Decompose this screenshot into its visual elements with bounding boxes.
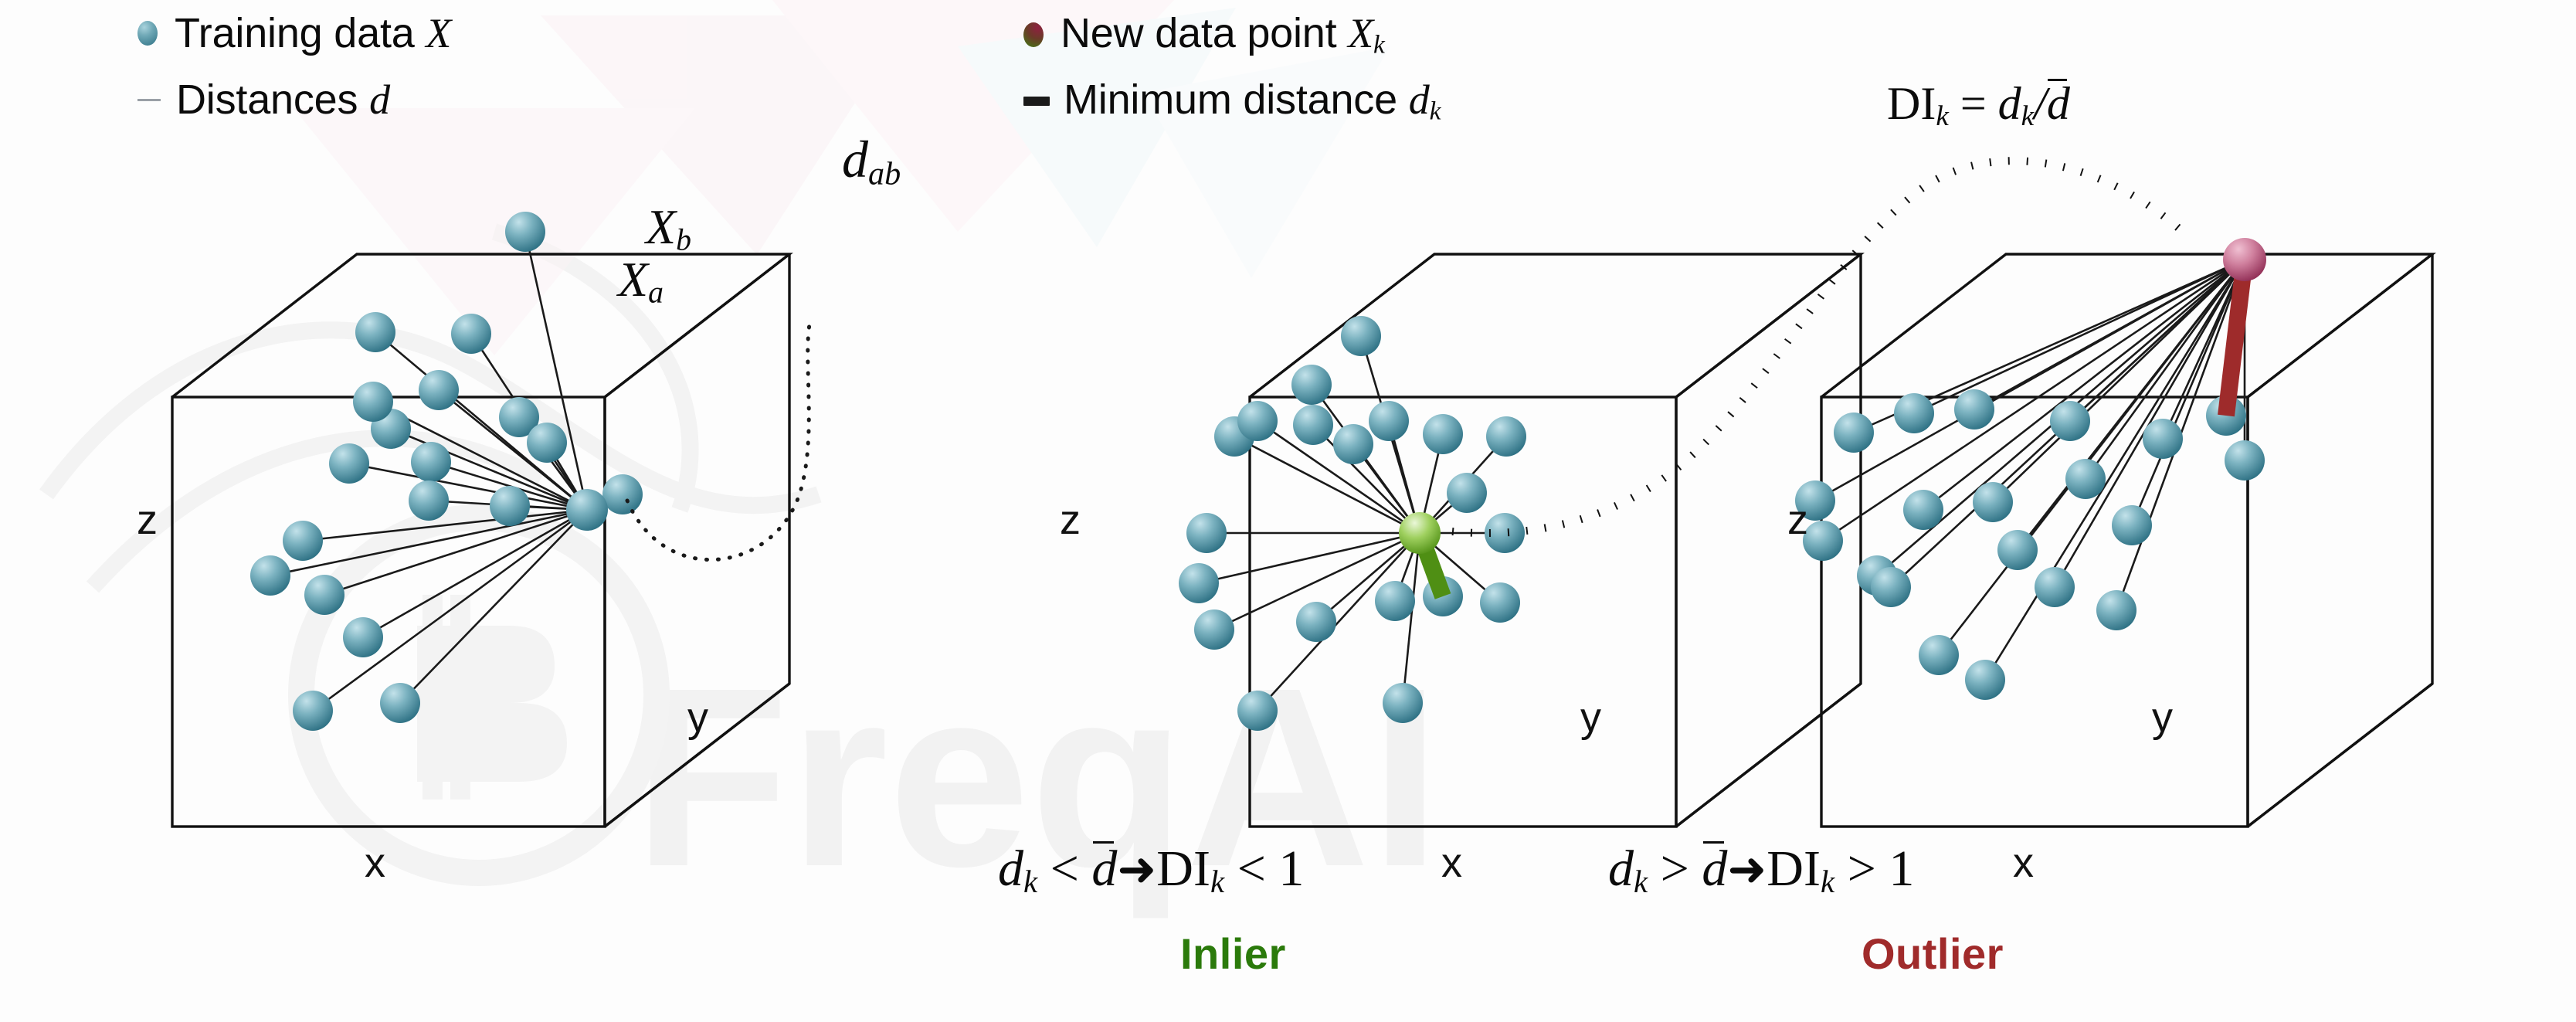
legend-label-distances: Distances d	[176, 79, 390, 121]
cube-wireframe-2	[1250, 254, 1861, 827]
axis-label-x-2: x	[1441, 842, 1462, 884]
training-points-2	[1179, 316, 1526, 731]
legend-item-training-data: Training data X	[137, 12, 451, 54]
diagram-root: FreqAI Training data X Distances d New d	[0, 0, 2576, 1022]
distance-label-dab: dab	[842, 133, 901, 190]
axis-label-x-3: x	[2013, 842, 2034, 884]
sphere-green-red-icon	[1023, 22, 1044, 47]
inlier-panel	[1179, 161, 2183, 827]
outlier-panel	[1795, 238, 2432, 827]
minimum-distance-line-outlier	[2226, 260, 2245, 416]
hub-point-xk-outlier	[2223, 238, 2266, 281]
distance-lines-1	[270, 232, 623, 711]
sphere-blue-icon	[137, 21, 158, 46]
hub-point-xk-inlier	[1399, 512, 1441, 554]
training-points-1	[250, 212, 643, 731]
thick-line-icon	[1023, 97, 1050, 106]
thin-line-icon	[137, 99, 161, 101]
axis-label-y-3: y	[2152, 697, 2173, 738]
training-data-panel	[172, 212, 809, 827]
legend-label-training-data: Training data X	[175, 12, 451, 54]
legend-item-new-data-point: New data point Xk	[1023, 12, 1385, 58]
axis-label-z-3: z	[1787, 499, 1808, 541]
legend-label-minimum-distance: Minimum distance dk	[1064, 79, 1441, 124]
axis-label-y-2: y	[1580, 697, 1601, 738]
point-label-xb: Xb	[646, 202, 691, 256]
hub-point-xa	[566, 489, 608, 531]
legend-label-new-data-point: New data point Xk	[1061, 12, 1385, 58]
leader-line-dab	[627, 324, 809, 560]
leader-line-inlier	[1452, 161, 2183, 533]
distance-lines-2	[1199, 336, 1506, 711]
training-points-3	[1795, 389, 2265, 700]
inlier-caption: dk < d➜DIk < 1	[998, 844, 1304, 898]
point-label-xa: Xa	[618, 255, 664, 308]
axis-label-x-1: x	[365, 842, 385, 884]
minimum-distance-line-inlier	[1420, 533, 1443, 596]
verdict-outlier: Outlier	[1862, 929, 2004, 979]
distance-lines-3	[1815, 260, 2245, 680]
legend-item-distances: Distances d	[137, 79, 390, 121]
legend-item-minimum-distance: Minimum distance dk	[1023, 79, 1441, 124]
axis-label-y-1: y	[687, 697, 708, 738]
cube-wireframe-3	[1821, 254, 2432, 827]
axis-label-z-2: z	[1060, 499, 1081, 541]
di-definition-formula: DIk = dk/d	[1887, 80, 2070, 131]
axis-label-z-1: z	[137, 499, 158, 541]
outlier-caption: dk > d➜DIk > 1	[1608, 844, 1914, 898]
verdict-inlier: Inlier	[1180, 929, 1286, 979]
